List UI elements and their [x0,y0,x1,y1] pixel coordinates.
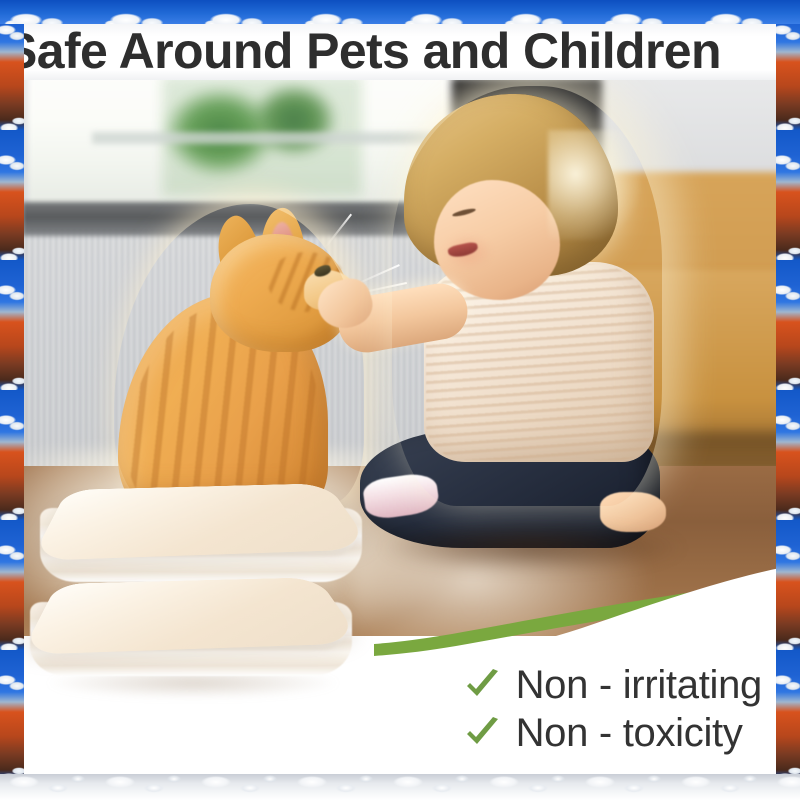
check-icon [462,665,502,705]
border-top [0,0,800,24]
cat-whisker [323,214,351,250]
feature-item-non-irritating: Non - irritating [462,664,762,706]
border-right [776,0,800,800]
border-bottom [0,774,800,800]
feature-list: Non - irritating Non - toxicity [462,664,762,760]
pad-face [22,577,364,655]
child [352,94,702,564]
feature-label: Non - irritating [516,664,762,706]
check-icon [462,713,502,753]
title-bar: Safe Around Pets and Children [22,22,780,80]
poster-content: Non - irritating Non - toxicity Safe Aro… [22,22,780,774]
feature-label: Non - toxicity [516,712,743,754]
child-hair-highlight [548,130,640,240]
page-title: Safe Around Pets and Children [22,26,721,76]
child-shadow [382,524,682,572]
product-pad-bottom [22,550,372,716]
product-poster: Non - irritating Non - toxicity Safe Aro… [0,0,800,800]
feature-item-non-toxicity: Non - toxicity [462,712,762,754]
border-left [0,0,24,800]
